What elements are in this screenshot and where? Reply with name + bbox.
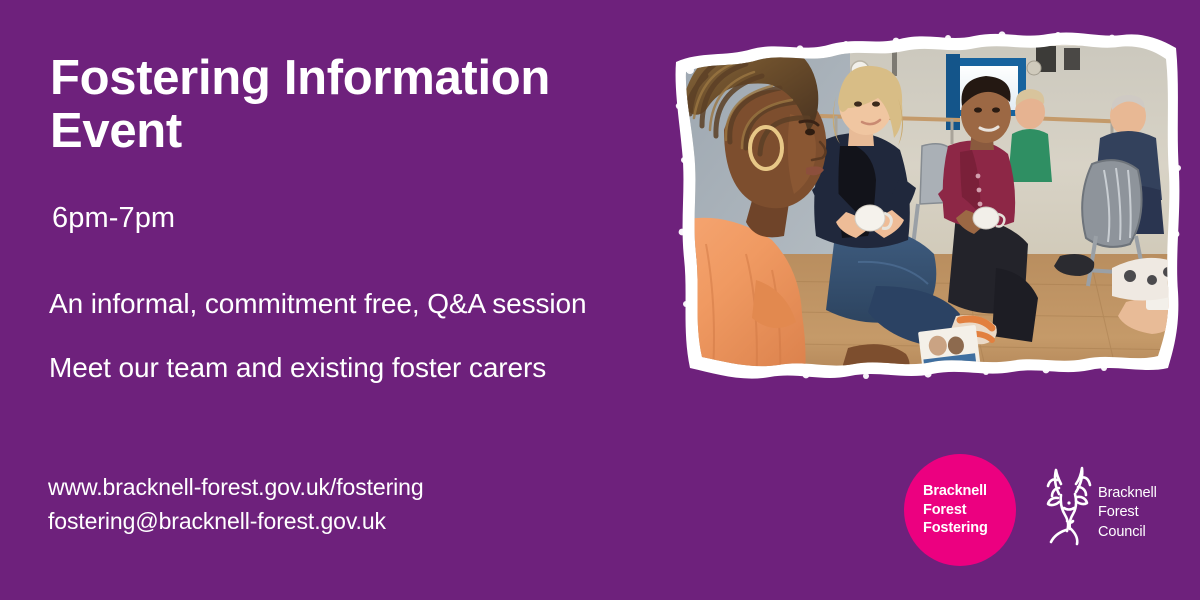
contact-details: www.bracknell-forest.gov.uk/fostering fo…: [48, 470, 424, 538]
event-time: 6pm-7pm: [52, 202, 175, 235]
stag-head-icon: [1043, 464, 1099, 548]
poster-canvas: Fostering Information Event 6pm-7pm An i…: [0, 0, 1200, 600]
fostering-roundel-logo: Bracknell Forest Fostering: [904, 454, 1016, 566]
email-link[interactable]: fostering@bracknell-forest.gov.uk: [48, 504, 424, 538]
description-line-1: An informal, commitment free, Q&A sessio…: [49, 288, 586, 320]
event-photo: [660, 18, 1190, 388]
council-logo-label: Bracknell Forest Council: [1098, 484, 1157, 542]
description-line-2: Meet our team and existing foster carers: [49, 352, 546, 384]
fostering-roundel-label: Bracknell Forest Fostering: [904, 482, 988, 537]
council-logo: Bracknell Forest Council: [1043, 462, 1183, 562]
website-link[interactable]: www.bracknell-forest.gov.uk/fostering: [48, 470, 424, 504]
page-title: Fostering Information Event: [50, 52, 650, 158]
